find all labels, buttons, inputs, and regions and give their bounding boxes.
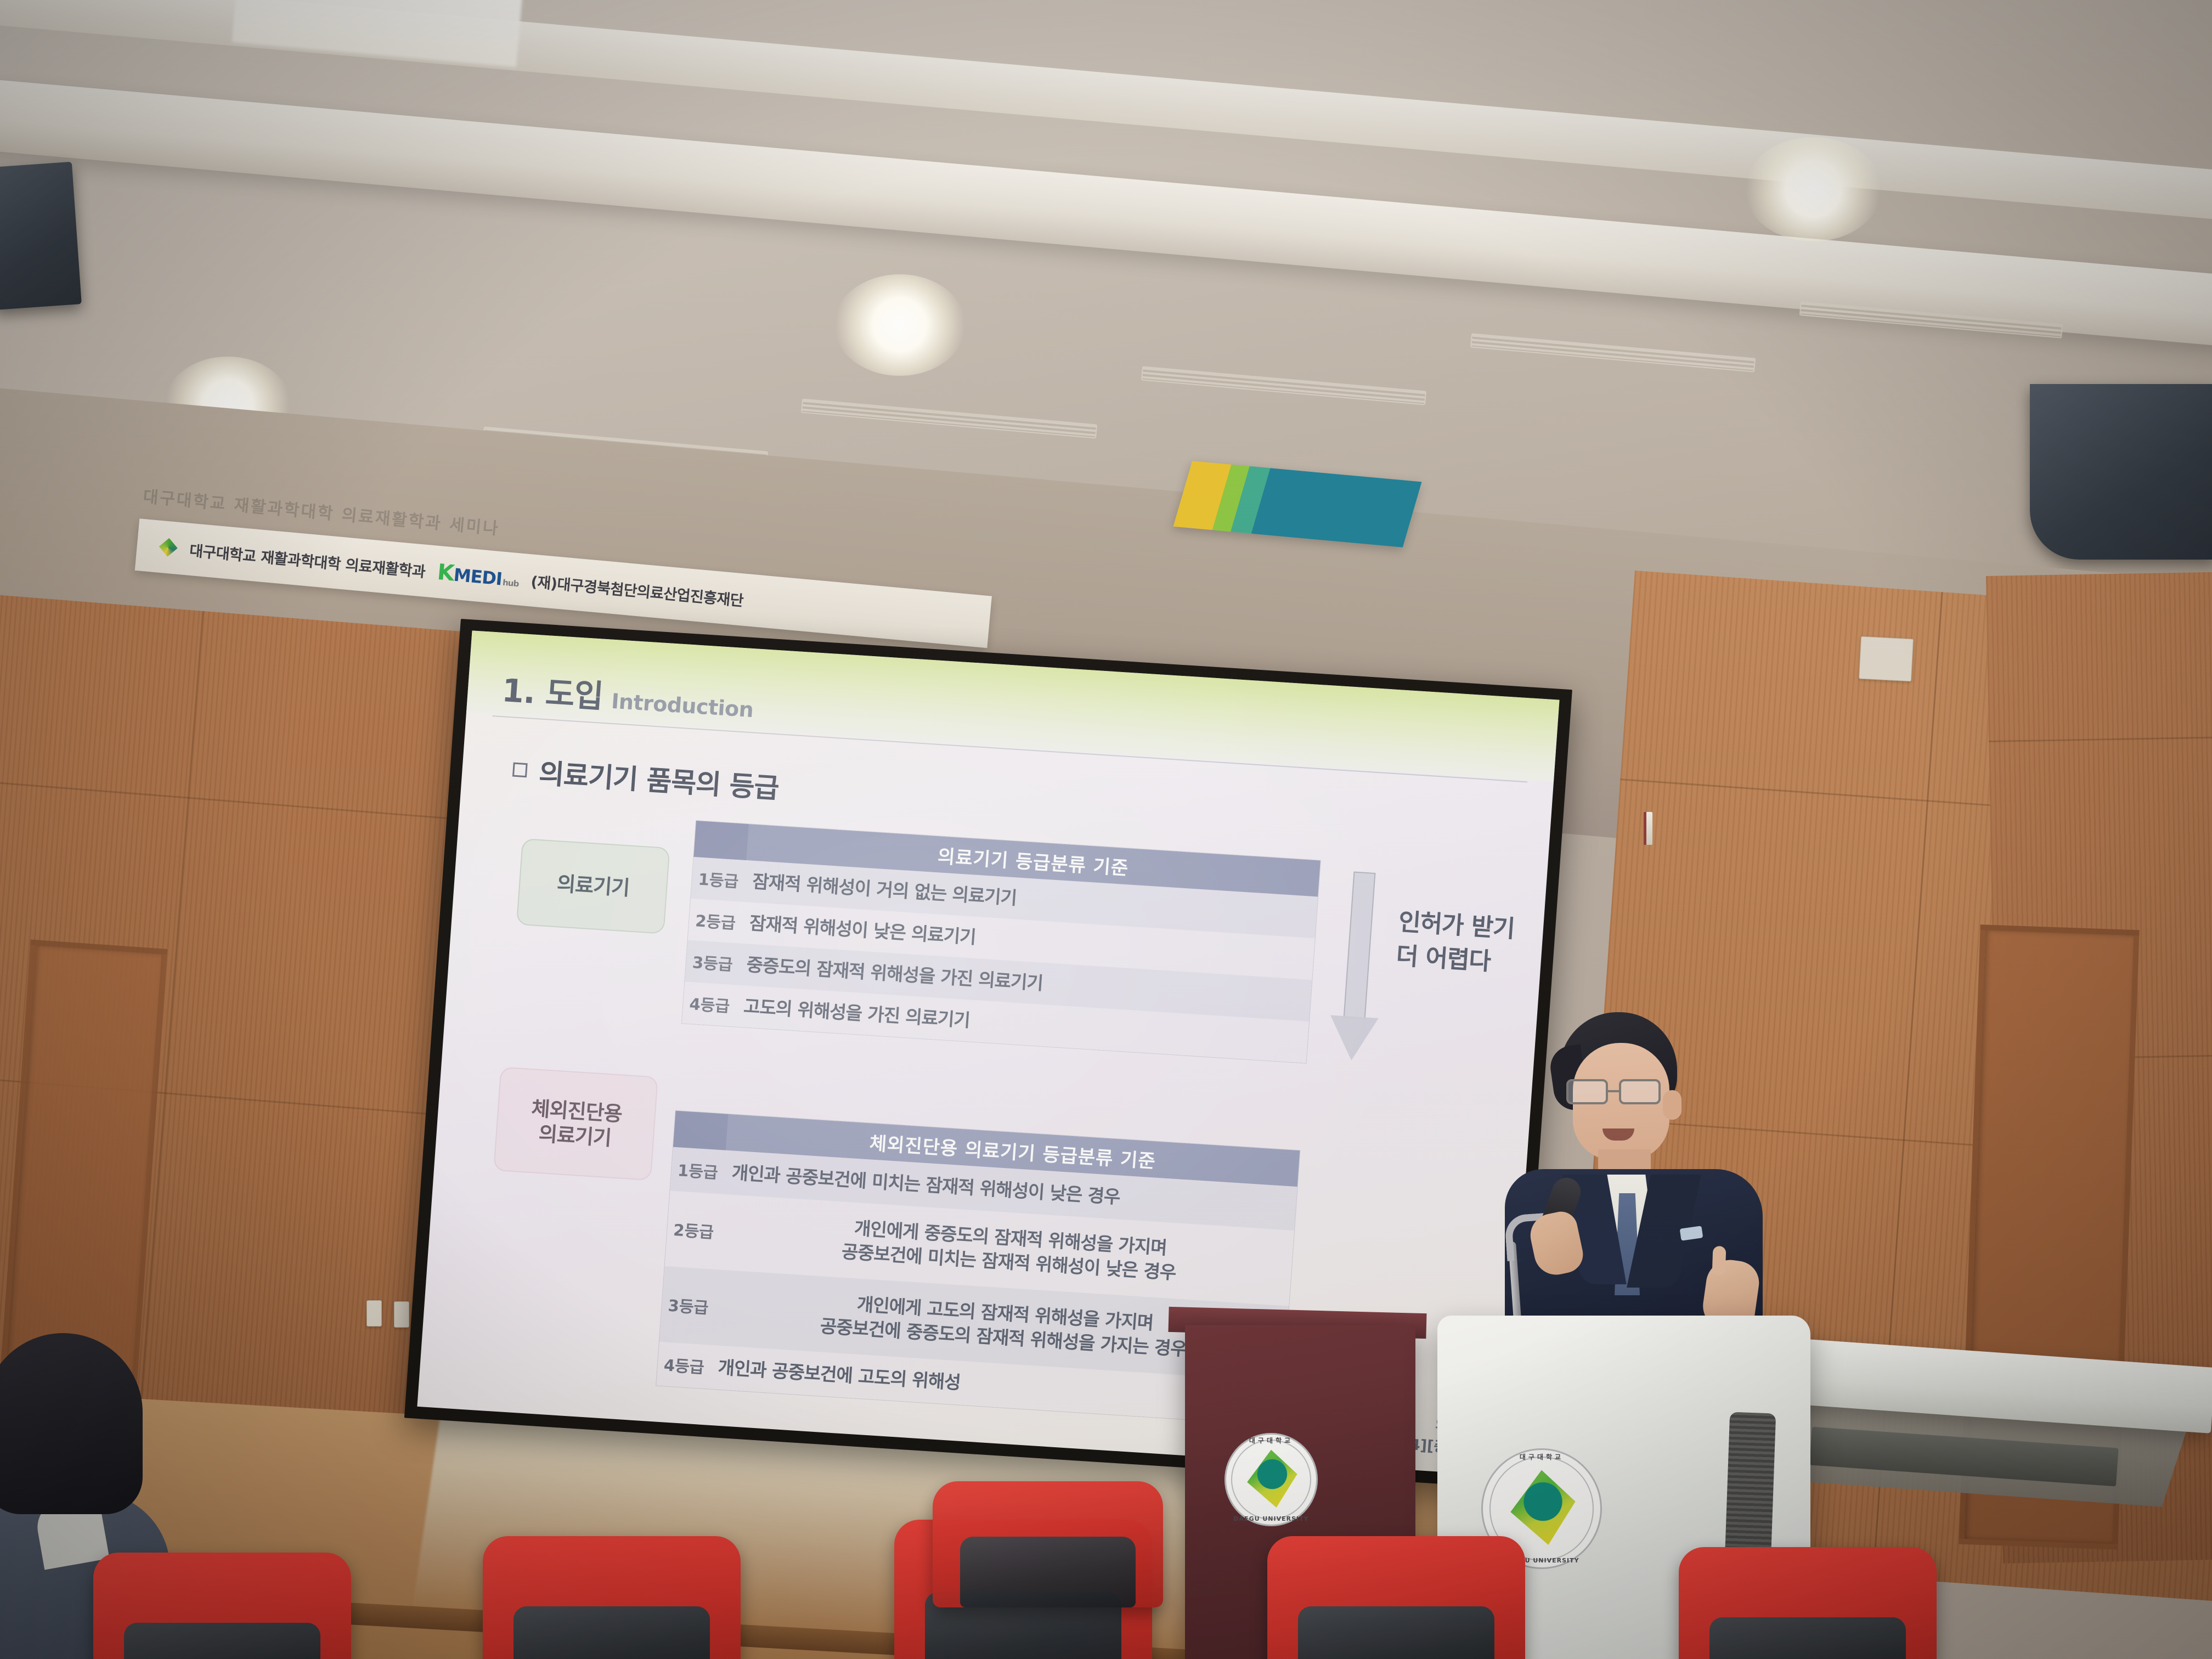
slide-bullet-text: 의료기기 품목의 등급 bbox=[538, 752, 780, 806]
down-arrow-icon bbox=[1327, 871, 1391, 1071]
grade-cell: 4등급 bbox=[682, 981, 737, 1026]
bullet-square-icon bbox=[512, 763, 528, 778]
wall-outlet-plate[interactable] bbox=[366, 1300, 382, 1327]
eyeglasses-icon bbox=[1566, 1079, 1676, 1107]
grade-cell: 3등급 bbox=[685, 940, 740, 985]
emblem-en-text: DAEGU UNIVERSITY bbox=[1224, 1515, 1318, 1522]
auditorium-seat[interactable] bbox=[1267, 1536, 1525, 1659]
slide-bullet: 의료기기 품목의 등급 bbox=[511, 750, 780, 806]
chip-ivd-device: 체외진단용 의료기기 bbox=[493, 1066, 658, 1181]
kmedihub-hub: hub bbox=[502, 577, 519, 589]
downlight-icon bbox=[1745, 137, 1882, 241]
auditorium-seat[interactable] bbox=[483, 1536, 741, 1659]
ceiling-speaker-box bbox=[2030, 384, 2212, 560]
table-medical-device-grades: 의료기기 등급분류 기준 1등급 잠재적 위해성이 거의 없는 의료기기 2등급… bbox=[682, 821, 1321, 1063]
grade-cell: 2등급 bbox=[688, 899, 743, 944]
emblem-kr-text: 대구대학교 bbox=[1481, 1452, 1602, 1462]
wall-switch-plate[interactable] bbox=[394, 1301, 409, 1328]
slide-section-en: Introduction bbox=[611, 689, 754, 722]
emblem-kr-text: 대구대학교 bbox=[1224, 1436, 1318, 1445]
ceiling-speaker-box bbox=[0, 162, 82, 311]
emergency-alarm-strip bbox=[1644, 812, 1652, 845]
grade-cell: 3등급 bbox=[659, 1266, 718, 1345]
daegu-university-logo-icon bbox=[158, 537, 178, 557]
grade-cell: 2등급 bbox=[665, 1190, 723, 1269]
chip-medical-device-label: 의료기기 bbox=[556, 872, 630, 901]
presenter bbox=[1489, 1012, 1797, 1363]
kmedihub-logo-icon: KMEDIhub bbox=[436, 559, 520, 591]
auditorium-seat[interactable] bbox=[1679, 1547, 1937, 1659]
grade-cell: 1등급 bbox=[691, 857, 746, 902]
daegu-university-emblem: 대구대학교 DAEGU UNIVERSITY bbox=[1224, 1433, 1318, 1526]
auditorium-seat[interactable] bbox=[933, 1481, 1163, 1607]
table-header-corner bbox=[693, 821, 748, 860]
annotation-text: 인허가 받기 더 어렵다 bbox=[1395, 905, 1560, 985]
wall-sensor-plate bbox=[1859, 636, 1914, 682]
grade-cell: 1등급 bbox=[670, 1147, 725, 1194]
auditorium-seat[interactable] bbox=[93, 1553, 351, 1659]
downlight-icon bbox=[834, 274, 966, 376]
slide-section-number: 1. 도입 bbox=[500, 664, 605, 717]
kmedihub-medi: MEDI bbox=[453, 564, 503, 589]
banner-left-org: 대구대학교 재활과학대학 의료재활학과 bbox=[189, 539, 426, 582]
grade-cell: 4등급 bbox=[656, 1342, 712, 1389]
kmedihub-k: K bbox=[436, 559, 455, 586]
chip-ivd-line2: 의료기기 bbox=[538, 1121, 612, 1150]
lecture-hall-photo: 대구대학교 재활과학대학 의료재활학과 세미나 대구대학교 재활과학대학 의료재… bbox=[0, 0, 2212, 1659]
chip-medical-device: 의료기기 bbox=[516, 838, 670, 934]
table-header-corner bbox=[673, 1111, 728, 1150]
attendee-head bbox=[0, 1333, 143, 1514]
banner-right-org: (재)대구경북첨단의료산업진흥재단 bbox=[530, 569, 744, 610]
